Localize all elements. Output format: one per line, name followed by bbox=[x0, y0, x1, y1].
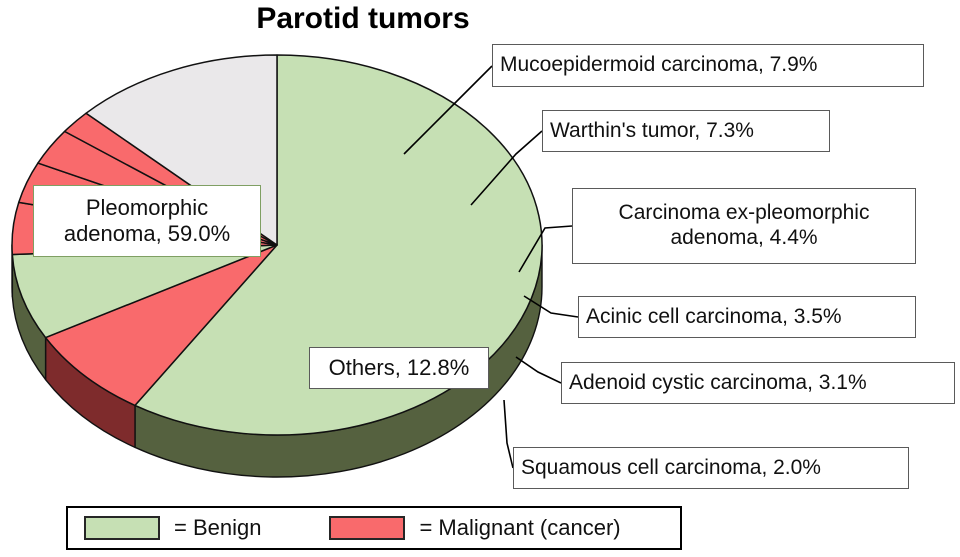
legend-label-malignant: = Malignant (cancer) bbox=[419, 515, 620, 541]
legend-item-malignant: = Malignant (cancer) bbox=[329, 515, 620, 541]
legend-item-benign: = Benign bbox=[84, 515, 261, 541]
legend-swatch-malignant bbox=[329, 516, 405, 540]
slice-label-others: Others, 12.8% bbox=[309, 347, 489, 389]
legend-spacer bbox=[261, 528, 329, 529]
slice-label-carcinoma-ex-pleomorphic-adenoma: Carcinoma ex-pleomorphic adenoma, 4.4% bbox=[572, 188, 916, 264]
leader-line-adenoid bbox=[516, 357, 561, 383]
chart-title: Parotid tumors bbox=[256, 2, 469, 36]
page-title: Parotid tumors bbox=[0, 2, 960, 36]
slice-label-acinic-cell-carcinoma: Acinic cell carcinoma, 3.5% bbox=[578, 296, 916, 338]
slice-label-squamous-cell-carcinoma: Squamous cell carcinoma, 2.0% bbox=[513, 447, 909, 489]
legend-swatch-benign bbox=[84, 516, 160, 540]
chart-legend: = Benign = Malignant (cancer) bbox=[66, 506, 682, 550]
chart-canvas: Parotid tumors Pleomorphic adenoma, 59.0… bbox=[0, 0, 960, 557]
legend-label-benign: = Benign bbox=[174, 515, 261, 541]
slice-label-mucoepidermoid-carcinoma: Mucoepidermoid carcinoma, 7.9% bbox=[492, 44, 924, 87]
pie-slices bbox=[12, 55, 542, 477]
slice-label-adenoid-cystic-carcinoma: Adenoid cystic carcinoma, 3.1% bbox=[561, 362, 955, 404]
leader-line-squamous bbox=[504, 400, 513, 468]
slice-label-warthins-tumor: Warthin's tumor, 7.3% bbox=[542, 110, 830, 152]
slice-label-pleomorphic-adenoma: Pleomorphic adenoma, 59.0% bbox=[33, 185, 261, 257]
